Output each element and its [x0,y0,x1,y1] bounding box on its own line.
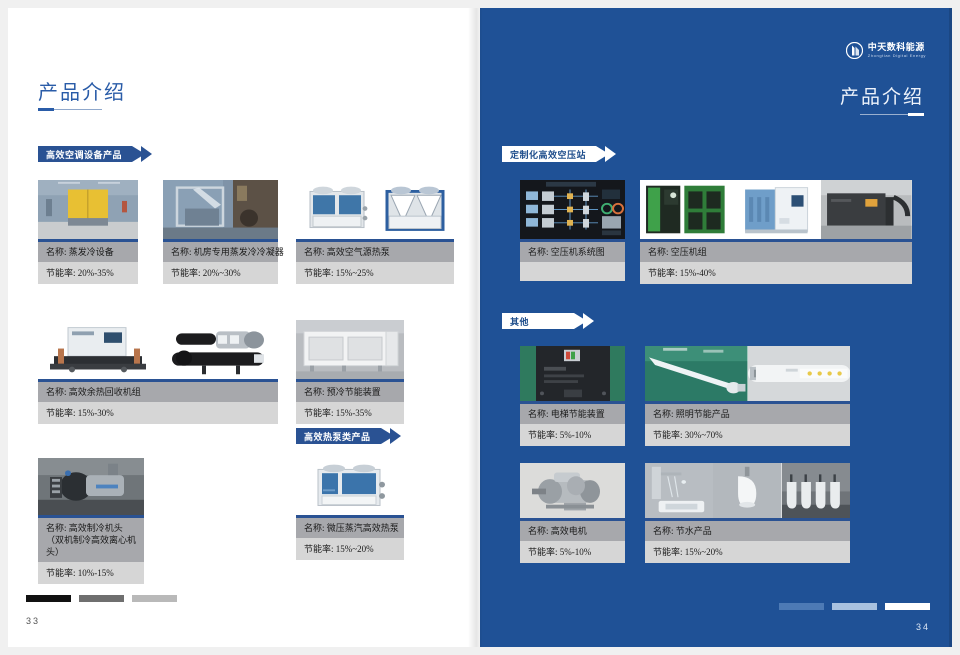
card-name: 名称: 空压机系统图 [520,242,625,262]
product-card[interactable]: 名称: 蒸发冷设备 节能率: 20%-35% [38,180,138,284]
left-page: 产品介绍 高效空调设备产品 [8,8,480,647]
micro-pressure-steam-heat-pump-photo [296,458,404,515]
card-rate: 节能率: 20%~30% [163,262,278,284]
water-saving-product-photo-2 [713,463,781,518]
pagination-bar-1 [779,603,824,610]
section-banner-label: 其他 [502,313,574,329]
water-saving-product-photo-1 [645,463,713,518]
card-rate: 节能率: 10%-15% [38,562,144,584]
product-card[interactable]: 名称: 机房专用蒸发冷冷凝器 节能率: 20%~30% [163,180,278,284]
chevron-right-icon [605,146,616,162]
brand-logo: 中天数科能源 Zhongtian Digital Energy [846,42,926,59]
card-name: 名称: 空压机组 [640,242,912,262]
section-banner-label: 定制化高效空压站 [502,146,596,162]
card-name: 名称: 照明节能产品 [645,404,850,424]
pagination-bars [779,603,930,610]
product-card[interactable]: 名称: 空压机组 节能率: 15%-40% [640,180,912,284]
chevron-right-icon [583,313,594,329]
title-underline [860,114,924,115]
page-edge [949,8,952,647]
card-rate: 节能率: 15%-30% [38,402,278,424]
product-card[interactable]: 名称: 高效空气源热泵 节能率: 15%~25% [296,180,454,284]
brand-name-en: Zhongtian Digital Energy [868,54,926,58]
product-card[interactable]: 名称: 高效电机 节能率: 5%-10% [520,463,625,563]
chevron-right-icon [390,428,401,444]
title-underline [38,109,102,110]
card-name: 名称: 高效空气源热泵 [296,242,454,262]
card-name: 名称: 预冷节能装置 [296,382,404,402]
led-tube-photo-2 [748,346,851,401]
evap-cooling-unit-photo [38,180,138,239]
card-name: 名称: 高效余热回收机组 [38,382,278,402]
page-number: 34 [916,622,930,632]
product-card[interactable]: 名称: 微压蒸汽高效热泵 节能率: 15%~20% [296,458,404,560]
card-rate: 节能率: 20%-35% [38,262,138,284]
card-rate: 节能率: 15%~25% [296,262,454,284]
high-efficiency-motor-photo [520,463,625,518]
section-banner-hvac: 高效空调设备产品 [38,146,152,162]
section-banner-label: 高效热泵类产品 [296,428,381,444]
pagination-bar-2 [832,603,877,610]
product-card[interactable]: 名称: 空压机系统图 [520,180,625,281]
pagination-bar-1 [26,595,71,602]
chevron-right-icon [141,146,152,162]
led-tube-photo-1 [645,346,748,401]
card-name: 名称: 机房专用蒸发冷冷凝器 [163,242,278,262]
company-mark-icon [846,42,863,59]
card-rate: 节能率: 15%~20% [296,538,404,560]
card-media [38,320,278,382]
card-media [296,180,454,242]
water-saving-product-photo-3 [782,463,850,518]
card-media [163,180,278,242]
section-banner-other: 其他 [502,313,594,329]
card-name: 名称: 蒸发冷设备 [38,242,138,262]
card-media [520,346,625,404]
section-banner-label: 高效空调设备产品 [38,146,132,162]
high-efficiency-chiller-head-photo [38,458,144,515]
page-number: 33 [26,616,40,626]
card-media [645,463,850,521]
brand-name-cn: 中天数科能源 [868,43,926,52]
pre-cooling-energy-saving-device-photo [296,320,404,379]
page-title: 产品介绍 [38,76,126,105]
product-card[interactable]: 名称: 照明节能产品 节能率: 30%~70% [645,346,850,446]
product-card[interactable]: 名称: 高效制冷机头（双机制冷高效离心机头） 节能率: 10%-15% [38,458,144,584]
air-source-heat-pump-photo-2 [375,180,454,239]
card-media [640,180,912,242]
brochure-spread: 产品介绍 高效空调设备产品 [0,0,960,655]
product-card[interactable]: 名称: 节水产品 节能率: 15%~20% [645,463,850,563]
card-name: 名称: 节水产品 [645,521,850,541]
pagination-bar-3 [885,603,930,610]
right-page: 中天数科能源 Zhongtian Digital Energy 产品介绍 定制化… [480,8,952,647]
card-name: 名称: 高效制冷机头（双机制冷高效离心机头） [38,518,144,562]
air-compressor-system-diagram-screen [520,180,625,239]
card-media [520,180,625,242]
air-compressor-unit-photo-1 [640,180,731,239]
product-card[interactable]: 名称: 高效余热回收机组 节能率: 15%-30% [38,320,278,424]
card-media [520,463,625,521]
card-rate: 节能率: 5%-10% [520,541,625,563]
page-title: 产品介绍 [840,82,924,109]
pagination-bars [26,595,177,602]
card-name: 名称: 微压蒸汽高效热泵 [296,518,404,538]
pagination-bar-3 [132,595,177,602]
air-compressor-unit-photo-2 [731,180,822,239]
elevator-energy-saving-device-photo [520,346,625,401]
card-rate: 节能率: 15%~20% [645,541,850,563]
card-media [645,346,850,404]
card-rate: 节能率: 30%~70% [645,424,850,446]
card-rate: 节能率: 5%-10% [520,424,625,446]
waste-heat-recovery-unit-photo-1 [38,320,158,379]
air-source-heat-pump-photo-1 [296,180,375,239]
air-compressor-unit-photo-3 [821,180,912,239]
pagination-bar-2 [79,595,124,602]
product-card[interactable]: 名称: 电梯节能装置 节能率: 5%-10% [520,346,625,446]
card-name: 名称: 高效电机 [520,521,625,541]
card-rate: 节能率: 15%-40% [640,262,912,284]
card-media [38,180,138,242]
section-banner-heat-pump: 高效热泵类产品 [296,428,401,444]
machine-room-evaporative-condenser-photo [163,180,278,239]
brand-text: 中天数科能源 Zhongtian Digital Energy [868,43,926,58]
section-banner-air-compressor: 定制化高效空压站 [502,146,616,162]
card-media [38,458,144,518]
card-rate: 节能率: 15%-35% [296,402,404,424]
card-name: 名称: 电梯节能装置 [520,404,625,424]
card-media [296,458,404,518]
waste-heat-recovery-unit-photo-2 [158,320,278,379]
card-rate [520,262,625,281]
product-card[interactable]: 名称: 预冷节能装置 节能率: 15%-35% [296,320,404,424]
card-media [296,320,404,382]
